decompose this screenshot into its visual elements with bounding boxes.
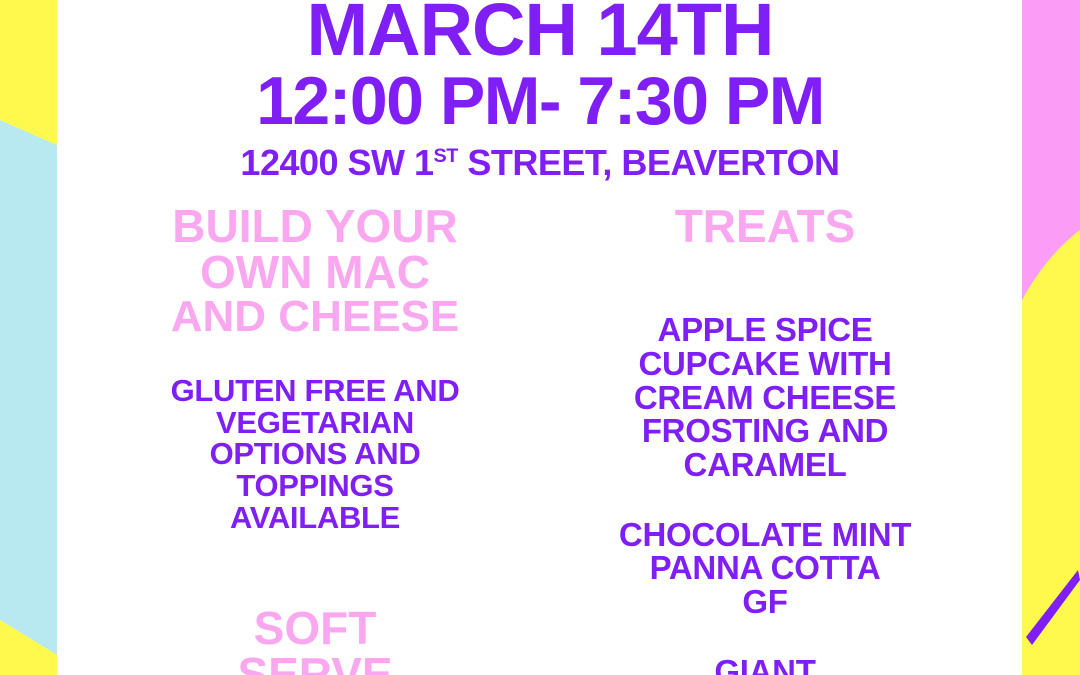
treat-item-2-line-1: CHOCOLATE MINT xyxy=(546,518,984,552)
right-purple-stripe xyxy=(1026,570,1080,645)
spacer xyxy=(546,249,984,313)
treat-item-1-line-2: CUPCAKE WITH xyxy=(546,347,984,381)
mac-detail-line-2: VEGETARIAN xyxy=(96,407,534,439)
treat-item-3-line-1: GIANT xyxy=(546,655,984,675)
mac-heading-line-3: AND CHEESE xyxy=(96,295,534,339)
menu-columns: BUILD YOUR OWN MAC AND CHEESE GLUTEN FRE… xyxy=(90,203,990,675)
address-prefix: 12400 SW 1 xyxy=(240,142,433,183)
address-ordinal-suffix: ST xyxy=(434,145,458,167)
treat-item-1-line-4: FROSTING AND xyxy=(546,414,984,448)
event-time: 12:00 PM- 7:30 PM xyxy=(90,61,990,134)
header-block: MARCH 14TH 12:00 PM- 7:30 PM 12400 SW 1S… xyxy=(90,0,990,181)
flyer-canvas: MARCH 14TH 12:00 PM- 7:30 PM 12400 SW 1S… xyxy=(0,0,1080,675)
poster-content: MARCH 14TH 12:00 PM- 7:30 PM 12400 SW 1S… xyxy=(90,0,990,675)
soft-serve-line-2: SERVE xyxy=(96,651,534,675)
right-pink-shape xyxy=(1022,0,1080,300)
treats-heading: TREATS xyxy=(546,203,984,249)
treat-item-1-line-3: CREAM CHEESE xyxy=(546,381,984,415)
column-mac-and-cheese: BUILD YOUR OWN MAC AND CHEESE GLUTEN FRE… xyxy=(90,203,540,675)
mac-detail-line-5: AVAILABLE xyxy=(96,502,534,534)
left-yellow-bottom-shape xyxy=(0,620,57,675)
spacer xyxy=(96,339,534,375)
mac-heading-line-1: BUILD YOUR xyxy=(96,203,534,249)
right-edge-decoration xyxy=(990,0,1080,675)
mac-heading-line-2: OWN MAC xyxy=(96,249,534,295)
event-address: 12400 SW 1ST STREET, BEAVERTON xyxy=(90,133,990,181)
treat-item-1-line-5: CARAMEL xyxy=(546,448,984,482)
mac-detail-line-3: OPTIONS AND xyxy=(96,438,534,470)
spacer xyxy=(546,619,984,655)
event-date: MARCH 14TH xyxy=(90,0,990,61)
column-treats: TREATS APPLE SPICE CUPCAKE WITH CREAM CH… xyxy=(540,203,990,675)
treat-item-2-line-2: PANNA COTTA xyxy=(546,551,984,585)
mac-detail-line-1: GLUTEN FREE AND xyxy=(96,375,534,407)
right-yellow-shape xyxy=(1022,0,1080,675)
treat-item-2-line-3: GF xyxy=(546,585,984,619)
left-yellow-shape xyxy=(0,0,57,145)
spacer xyxy=(96,533,534,605)
mac-detail-line-4: TOPPINGS xyxy=(96,470,534,502)
address-suffix: STREET, BEAVERTON xyxy=(458,142,840,183)
treat-item-1-line-1: APPLE SPICE xyxy=(546,313,984,347)
soft-serve-line-1: SOFT xyxy=(96,605,534,651)
spacer xyxy=(546,482,984,518)
left-edge-decoration xyxy=(0,0,90,675)
left-blue-shape xyxy=(0,120,57,655)
